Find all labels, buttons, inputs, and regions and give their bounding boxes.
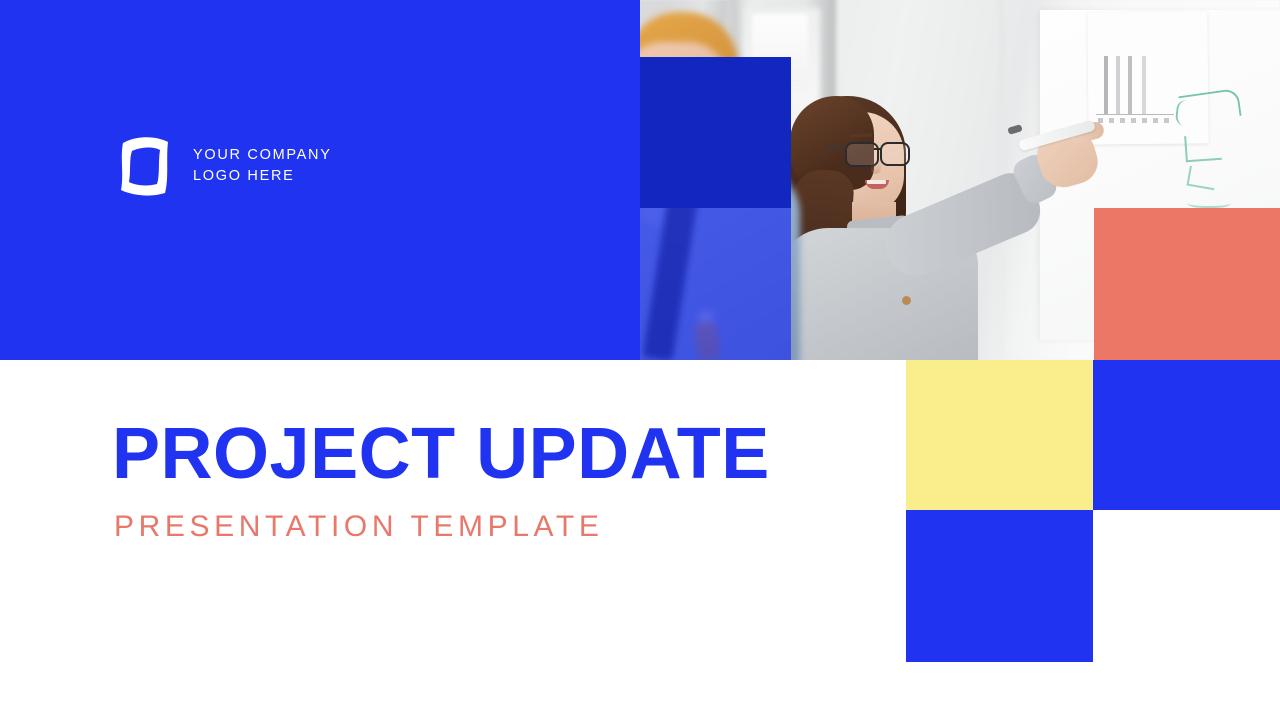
presentation-slide: YOUR COMPANY LOGO HERE PROJECT UPDATE PR… <box>0 0 1280 720</box>
woman-nose <box>871 162 881 174</box>
whiteboard-marker-scribble <box>1175 99 1196 127</box>
whiteboard-bar-chart <box>1098 56 1168 114</box>
translucent-blue-square <box>640 208 791 360</box>
page-title: PROJECT UPDATE <box>112 418 770 490</box>
whiteboard-chart-labels <box>1098 118 1172 123</box>
dark-blue-square <box>640 57 791 208</box>
whiteboard-marker-scribble <box>1184 134 1222 162</box>
whiteboard-marker-scribble <box>1187 196 1231 208</box>
eyeglasses-lens-right <box>880 142 910 166</box>
blue-square-bottom <box>906 510 1093 662</box>
salmon-rectangle <box>1094 208 1280 360</box>
logo-lockup: YOUR COMPANY LOGO HERE <box>113 132 332 200</box>
eyeglasses-bridge <box>874 148 882 150</box>
blue-square-right <box>1093 360 1280 510</box>
whiteboard-chart-axis <box>1096 114 1174 115</box>
woman-teeth <box>867 180 886 184</box>
blazer-button <box>902 296 911 305</box>
yellow-square <box>906 360 1093 510</box>
page-subtitle: PRESENTATION TEMPLATE <box>114 512 770 542</box>
logo-text: YOUR COMPANY LOGO HERE <box>193 145 332 187</box>
company-logo-icon <box>113 132 175 200</box>
title-block: PROJECT UPDATE PRESENTATION TEMPLATE <box>112 418 770 542</box>
